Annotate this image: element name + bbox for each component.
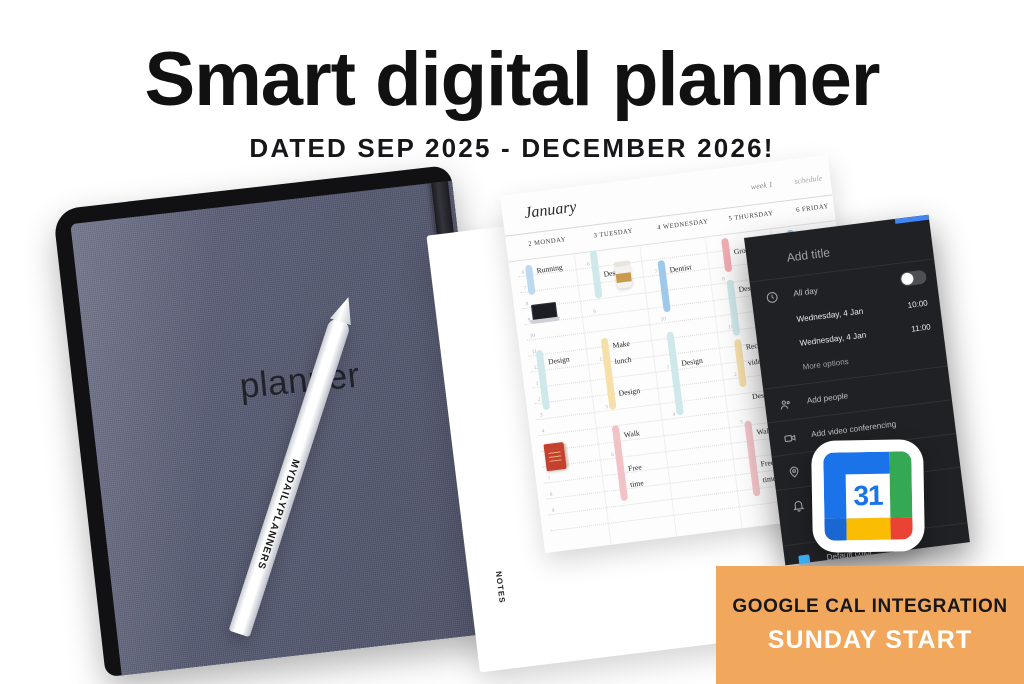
hour-tick: 3	[605, 404, 608, 410]
google-calendar-app-icon: 31	[811, 439, 925, 553]
dialog-accent-bar	[895, 215, 929, 224]
event-label[interactable]: Design	[548, 354, 571, 366]
hour-tick: 5	[740, 419, 743, 425]
day-header-thursday: 5 THURSDAY	[728, 210, 774, 223]
end-date[interactable]: Wednesday, 4 Jan	[799, 330, 867, 347]
all-day-label: All day	[793, 286, 819, 298]
all-day-toggle[interactable]	[900, 270, 928, 287]
event-label[interactable]: lunch	[614, 355, 632, 366]
end-time[interactable]: 11:00	[911, 322, 931, 333]
add-video-label: Add video conferencing	[811, 419, 897, 439]
hour-tick: 9	[593, 309, 596, 315]
hour-tick: 4	[672, 412, 675, 418]
hour-tick: 6	[587, 261, 590, 267]
gcal-icon-day-number: 31	[846, 474, 891, 519]
day-header-tuesday: 3 TUESDAY	[593, 228, 633, 240]
page-subtitle: DATED SEP 2025 - DECEMBER 2026!	[0, 133, 1024, 164]
people-icon	[778, 397, 793, 412]
hour-tick: 3	[539, 412, 542, 418]
event-label[interactable]: Running	[536, 263, 563, 276]
event-label[interactable]: Dentist	[669, 262, 692, 274]
location-pin-icon	[787, 465, 802, 480]
hour-tick: 6	[521, 270, 524, 276]
notes-tab-label: NOTES	[485, 552, 509, 623]
color-swatch-icon	[798, 554, 810, 565]
hour-tick: 10	[660, 316, 666, 323]
bell-icon	[791, 499, 806, 514]
hour-tick: 7	[523, 285, 526, 291]
page-title: Smart digital planner	[0, 42, 1024, 118]
hour-tick: 9	[552, 508, 555, 514]
clock-icon	[765, 290, 780, 305]
hour-tick: 4	[541, 428, 544, 434]
event-label[interactable]: time	[630, 478, 645, 489]
hour-tick: 2	[537, 397, 540, 403]
event-label[interactable]: Design	[618, 386, 641, 398]
laptop-sticker	[528, 302, 561, 328]
day-header-friday: 6 FRIDAY	[796, 203, 830, 214]
planner-month: January	[523, 199, 577, 223]
video-camera-icon	[783, 431, 798, 446]
hour-tick: 7	[548, 476, 551, 482]
gcal-icon-artwork: 31	[823, 451, 913, 541]
hour-tick: 1	[666, 364, 669, 370]
add-people-label: Add people	[806, 391, 848, 405]
hour-tick: 6	[611, 452, 614, 458]
event-title-input[interactable]: Add title	[786, 245, 831, 264]
hour-tick: 10	[529, 333, 535, 340]
feature-badge: GOOGLE CAL INTEGRATION SUNDAY START	[716, 566, 1024, 684]
event-bar[interactable]	[590, 250, 603, 298]
planner-week: week 1	[750, 180, 773, 192]
event-label[interactable]: Free	[628, 462, 643, 473]
day-header-monday: 2 MONDAY	[528, 236, 567, 248]
promo-canvas: Smart digital planner DATED SEP 2025 - D…	[0, 0, 1024, 684]
toggle-knob	[901, 272, 914, 285]
hour-tick: 8	[550, 492, 553, 498]
hour-tick: 7	[654, 269, 657, 275]
hour-tick: 8	[722, 277, 725, 283]
start-date[interactable]: Wednesday, 4 Jan	[796, 307, 864, 324]
hour-tick: 1	[535, 381, 538, 387]
start-time[interactable]: 10:00	[907, 299, 928, 310]
more-options-link[interactable]: More options	[802, 357, 849, 372]
planner-schedule-label: schedule	[794, 174, 823, 186]
badge-line-1: GOOGLE CAL INTEGRATION	[716, 596, 1024, 618]
hour-tick: 2	[734, 372, 737, 378]
day-header-wednesday: 4 WEDNESDAY	[657, 218, 709, 231]
red-book-sticker	[543, 442, 569, 472]
event-label[interactable]: Make	[612, 339, 630, 350]
coffee-cup-sticker	[613, 260, 633, 289]
badge-line-2: SUNDAY START	[716, 626, 1024, 655]
